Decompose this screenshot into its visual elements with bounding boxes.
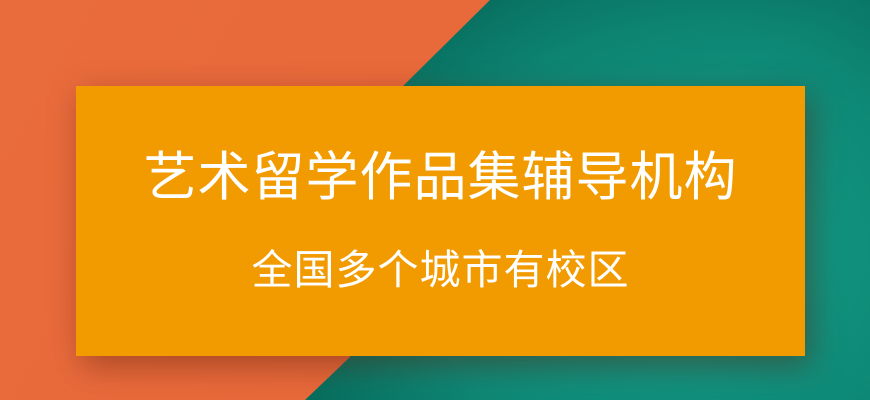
promo-banner: 艺术留学作品集辅导机构 全国多个城市有校区 [0,0,870,400]
banner-subheadline: 全国多个城市有校区 [252,210,630,291]
banner-headline: 艺术留学作品集辅导机构 [144,151,738,210]
content-card: 艺术留学作品集辅导机构 全国多个城市有校区 [76,86,805,356]
